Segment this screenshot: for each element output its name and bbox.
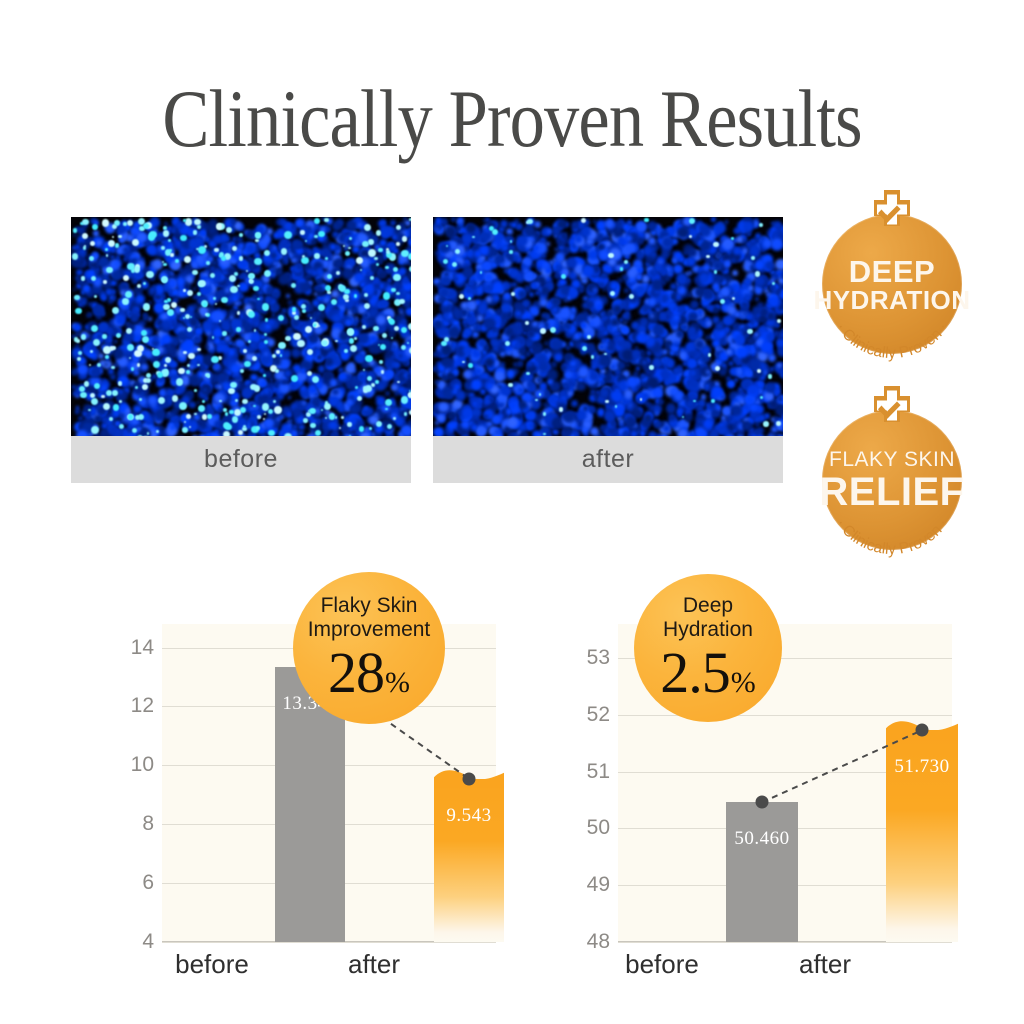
after-image-panel: after xyxy=(433,217,783,483)
bubble-percent: % xyxy=(385,668,410,698)
bubble-figure: 2.5 % xyxy=(660,644,756,702)
bubble-title-line2: Hydration xyxy=(663,618,753,642)
data-point-after xyxy=(916,724,929,737)
gridline xyxy=(162,942,496,943)
y-axis-tick: 53 xyxy=(522,646,610,670)
seal-line-1: FLAKY SKIN xyxy=(829,449,955,470)
data-point-after xyxy=(463,772,476,785)
x-label-after: after xyxy=(745,949,905,980)
y-axis-tick: 8 xyxy=(66,812,154,836)
before-image-panel: before xyxy=(71,217,411,483)
stat-bubble-flaky-skin: Flaky Skin Improvement 28 % xyxy=(293,572,445,724)
bubble-title-line2: Improvement xyxy=(308,618,431,642)
x-label-before: before xyxy=(582,949,742,980)
gridline xyxy=(618,942,952,943)
seal-deep-hydration: DEEP HYDRATION · Clinically Proven · xyxy=(818,188,966,368)
y-axis-tick: 52 xyxy=(522,703,610,727)
bubble-title: Deep Hydration xyxy=(663,594,753,641)
bubble-percent: % xyxy=(731,668,756,698)
bubble-figure: 28 % xyxy=(328,644,410,702)
data-point-before xyxy=(756,796,769,809)
x-label-before: before xyxy=(132,949,292,980)
infographic-root: Clinically Proven Results before after D… xyxy=(0,0,1024,1024)
y-axis-tick: 50 xyxy=(522,816,610,840)
seal-line-2: HYDRATION xyxy=(813,287,970,313)
bubble-title-line1: Flaky Skin xyxy=(308,594,431,618)
bubble-title: Flaky Skin Improvement xyxy=(308,594,431,641)
before-microscopy-image xyxy=(71,217,411,436)
after-microscopy-image xyxy=(433,217,783,436)
bubble-number: 28 xyxy=(328,644,384,702)
seal-line-1: DEEP xyxy=(849,256,935,287)
stat-bubble-deep-hydration: Deep Hydration 2.5 % xyxy=(634,574,782,722)
x-label-after: after xyxy=(294,949,454,980)
y-axis-tick: 6 xyxy=(66,871,154,895)
seal-text: FLAKY SKIN RELIEF xyxy=(818,410,966,550)
y-axis-tick: 12 xyxy=(66,694,154,718)
y-axis-tick: 51 xyxy=(522,760,610,784)
before-caption: before xyxy=(71,436,411,483)
after-caption: after xyxy=(433,436,783,483)
seal-text: DEEP HYDRATION xyxy=(818,214,966,354)
seal-flaky-skin-relief: FLAKY SKIN RELIEF · Clinically Proven · xyxy=(818,384,966,564)
seal-line-2: RELIEF xyxy=(819,472,964,512)
bubble-number: 2.5 xyxy=(660,644,730,702)
page-title: Clinically Proven Results xyxy=(72,78,953,160)
bubble-title-line1: Deep xyxy=(663,594,753,618)
y-axis-tick: 49 xyxy=(522,873,610,897)
y-axis-tick: 14 xyxy=(66,636,154,660)
y-axis-tick: 10 xyxy=(66,753,154,777)
